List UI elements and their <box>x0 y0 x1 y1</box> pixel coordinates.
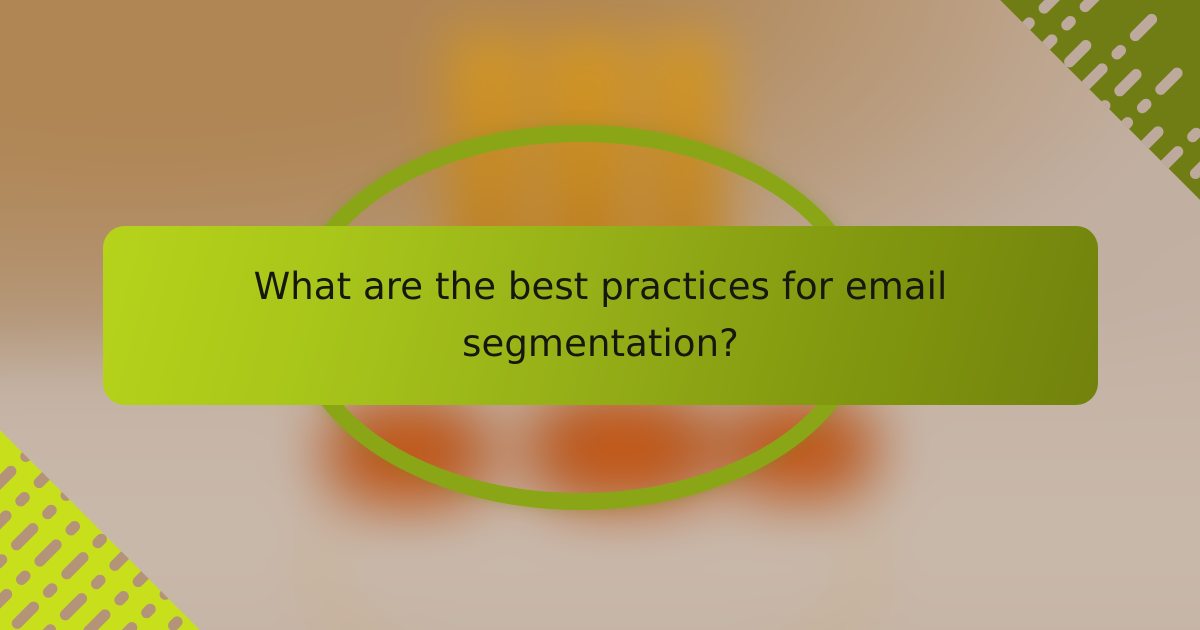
question-title-card: What are the best practices for email se… <box>103 226 1098 405</box>
page-title: What are the best practices for email se… <box>151 259 1050 372</box>
lantern-leg-right <box>771 526 871 630</box>
corner-decoration-top-right <box>1000 0 1200 200</box>
diagonal-dash-pattern-icon <box>1000 0 1200 200</box>
lantern-leg-left <box>315 526 415 630</box>
diagonal-dash-pattern-icon <box>0 430 200 630</box>
title-line-1: What are the best practices for email <box>254 265 948 308</box>
title-line-2: segmentation? <box>462 322 739 365</box>
question-card-banner: What are the best practices for email se… <box>0 0 1200 630</box>
corner-decoration-bottom-left <box>0 430 200 630</box>
